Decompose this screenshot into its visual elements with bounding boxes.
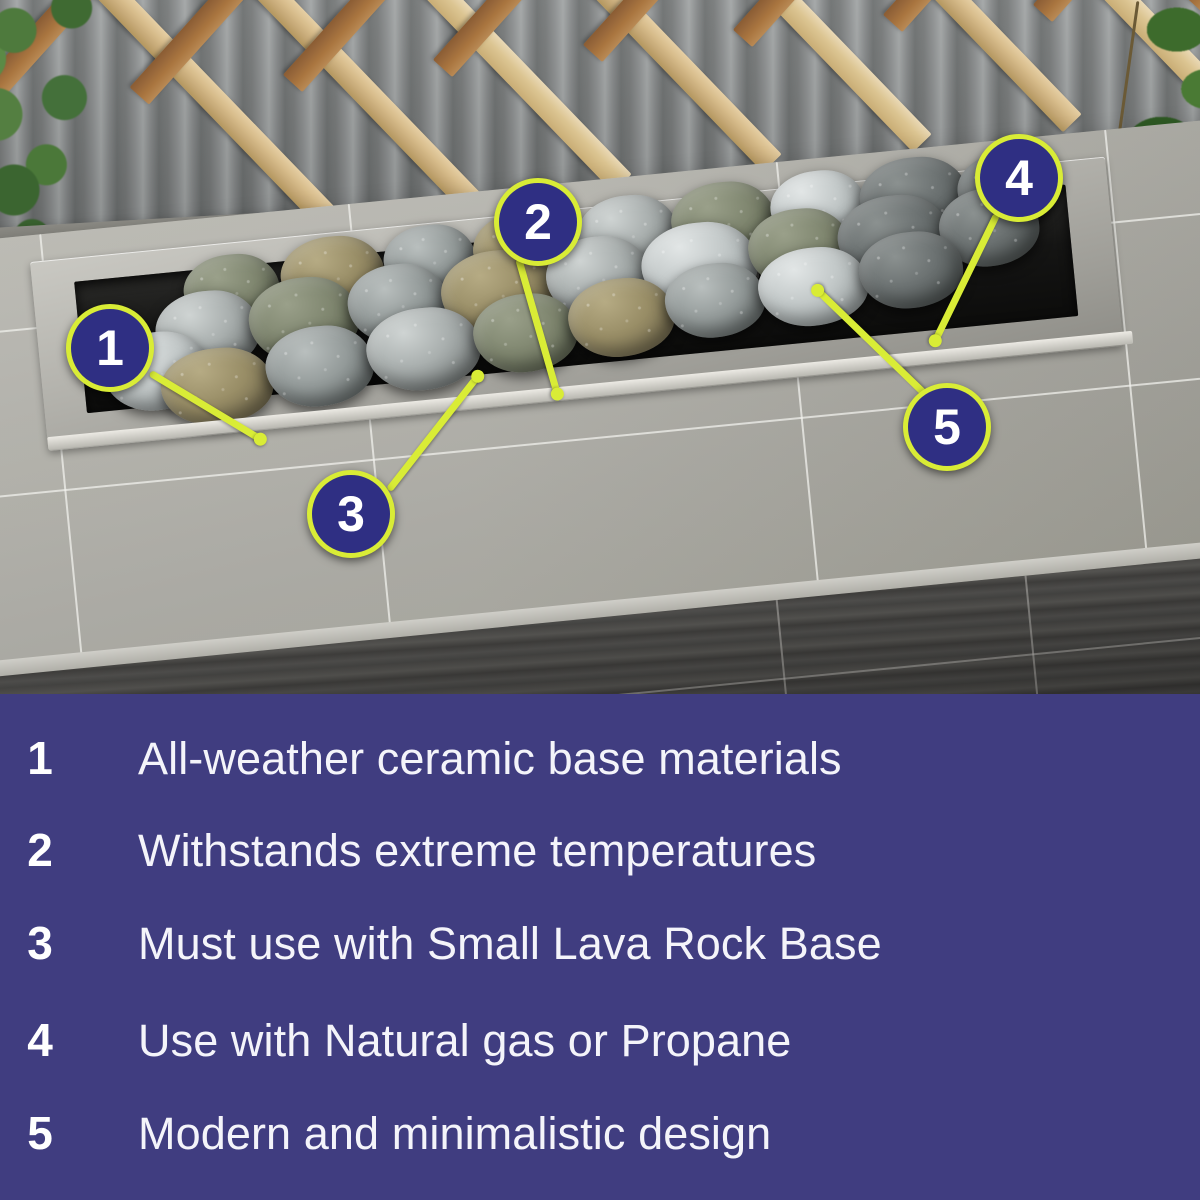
feature-text-4: Use with Natural gas or Propane bbox=[138, 1018, 791, 1063]
feature-number-3: 3 bbox=[0, 920, 138, 966]
infographic-page: 1 2 3 4 bbox=[0, 0, 1200, 1200]
feature-number-4: 4 bbox=[0, 1017, 138, 1063]
badge-2[interactable]: 2 bbox=[494, 178, 582, 266]
feature-text-5: Modern and minimalistic design bbox=[138, 1111, 771, 1156]
badge-1[interactable]: 1 bbox=[66, 304, 154, 392]
feature-row-4: 4 Use with Natural gas or Propane bbox=[0, 1010, 1200, 1070]
badge-3[interactable]: 3 bbox=[307, 470, 395, 558]
feature-row-3: 3 Must use with Small Lava Rock Base bbox=[0, 913, 1200, 973]
product-photo: 1 2 3 4 bbox=[0, 0, 1200, 694]
feature-row-1: 1 All-weather ceramic base materials bbox=[0, 728, 1200, 788]
badge-5[interactable]: 5 bbox=[903, 383, 991, 471]
feature-text-3: Must use with Small Lava Rock Base bbox=[138, 921, 882, 966]
feature-list-panel: 1 All-weather ceramic base materials 2 W… bbox=[0, 694, 1200, 1200]
badge-4[interactable]: 4 bbox=[975, 134, 1063, 222]
feature-text-2: Withstands extreme temperatures bbox=[138, 828, 816, 873]
feature-row-2: 2 Withstands extreme temperatures bbox=[0, 820, 1200, 880]
feature-row-5: 5 Modern and minimalistic design bbox=[0, 1103, 1200, 1163]
feature-number-2: 2 bbox=[0, 827, 138, 873]
feature-number-5: 5 bbox=[0, 1110, 138, 1156]
feature-text-1: All-weather ceramic base materials bbox=[138, 736, 842, 781]
feature-number-1: 1 bbox=[0, 735, 138, 781]
